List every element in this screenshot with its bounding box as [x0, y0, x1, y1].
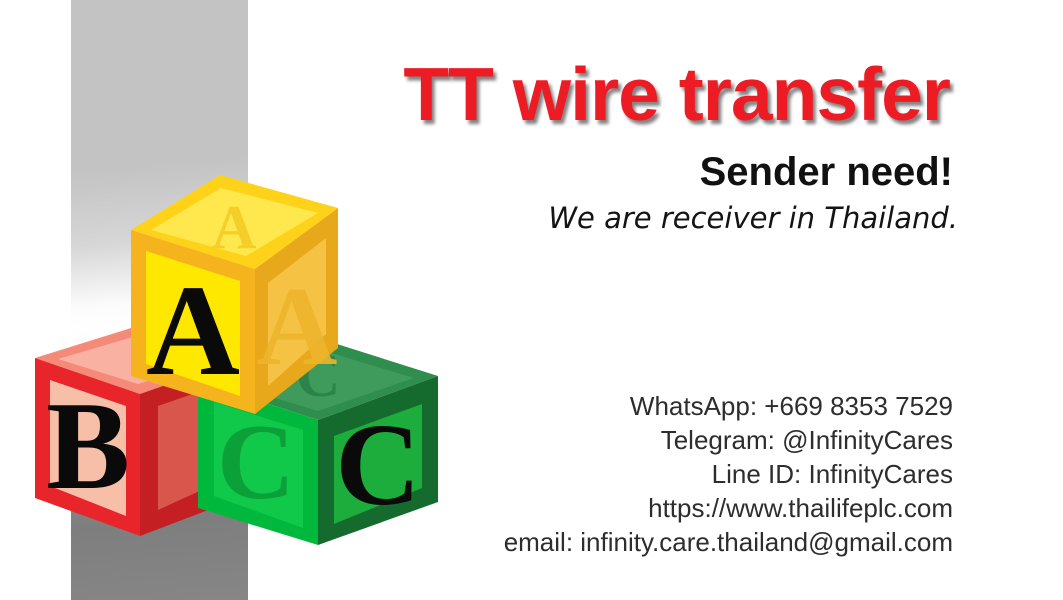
contact-block: WhatsApp: +669 8353 7529 Telegram: @Infi… [504, 389, 953, 559]
svg-text:A: A [257, 265, 338, 389]
abc-blocks-illustration: B C C C A [18, 168, 438, 560]
svg-text:A: A [212, 194, 257, 262]
block-yellow-a: A A A [131, 175, 338, 414]
contact-line-telegram: Telegram: @InfinityCares [504, 423, 953, 457]
contact-line-email[interactable]: email: infinity.care.thailand@gmail.com [504, 525, 953, 559]
svg-text:A: A [146, 259, 240, 403]
contact-line-lineid: Line ID: InfinityCares [504, 457, 953, 491]
business-card-graphic: B C C C A [0, 0, 1063, 600]
contact-line-website[interactable]: https://www.thailifeplc.com [504, 491, 953, 525]
page-title: TT wire transfer [403, 57, 950, 132]
svg-text:C: C [217, 403, 295, 522]
tagline: We are receiver in Thailand. [548, 203, 958, 235]
subtitle: Sender need! [700, 152, 953, 192]
svg-text:C: C [335, 399, 420, 530]
contact-line-whatsapp: WhatsApp: +669 8353 7529 [504, 389, 953, 423]
svg-text:B: B [46, 377, 130, 516]
